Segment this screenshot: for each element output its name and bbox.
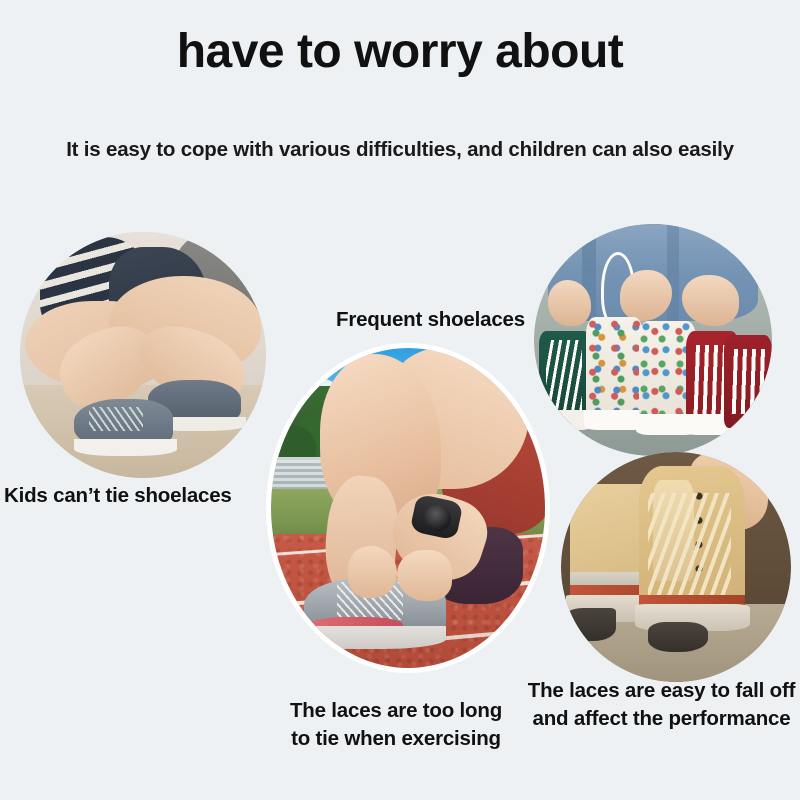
- runner-shoe-sole: [304, 626, 446, 648]
- photo-runner-canvas: [271, 348, 545, 668]
- photo-kids-canvas: [20, 232, 266, 478]
- infographic-page: have to worry about It is easy to cope w…: [0, 0, 800, 800]
- photo-canvas-shoes-canvas: [561, 452, 791, 682]
- runner-hand-right: [397, 550, 452, 601]
- caption-laces-too-long-line2: to tie when exercising: [264, 725, 528, 753]
- sneaker-green-laces: [546, 340, 582, 410]
- photo-sneakers-canvas: [534, 224, 772, 456]
- photo-canvas-sneakers-row: [534, 224, 772, 456]
- kids-shoelaces: [89, 407, 143, 432]
- hightop-left-toe-cap: [561, 608, 616, 640]
- photo-tan-hightops: [561, 452, 791, 682]
- hightop-right-laces: [648, 493, 731, 594]
- page-subtitle: It is easy to cope with various difficul…: [0, 138, 800, 162]
- page-title: have to worry about: [0, 24, 800, 79]
- caption-kids-cant-tie: Kids can’t tie shoelaces: [4, 482, 232, 510]
- sneaker-floral-1-pattern: [586, 317, 643, 424]
- caption-laces-too-long: The laces are too long to tie when exerc…: [264, 697, 528, 754]
- runner-hand-left: [348, 546, 397, 597]
- caption-laces-too-long-line1: The laces are too long: [264, 697, 528, 725]
- caption-laces-fall-off-line1: The laces are easy to fall off: [523, 677, 800, 705]
- caption-laces-fall-off: The laces are easy to fall off and affec…: [523, 677, 800, 734]
- hightop-right-toe-cap: [648, 622, 708, 652]
- photo-kids-tying-shoes: [20, 232, 266, 478]
- kids-shoe-front-sole: [74, 439, 177, 456]
- photo-runner-on-track: [266, 343, 550, 673]
- sneakers-denim-seam-2: [667, 224, 679, 321]
- caption-frequent-shoelaces: Frequent shoelaces: [336, 306, 525, 334]
- sneaker-red-2-laces: [729, 349, 765, 414]
- caption-laces-fall-off-line2: and affect the performance: [523, 705, 800, 733]
